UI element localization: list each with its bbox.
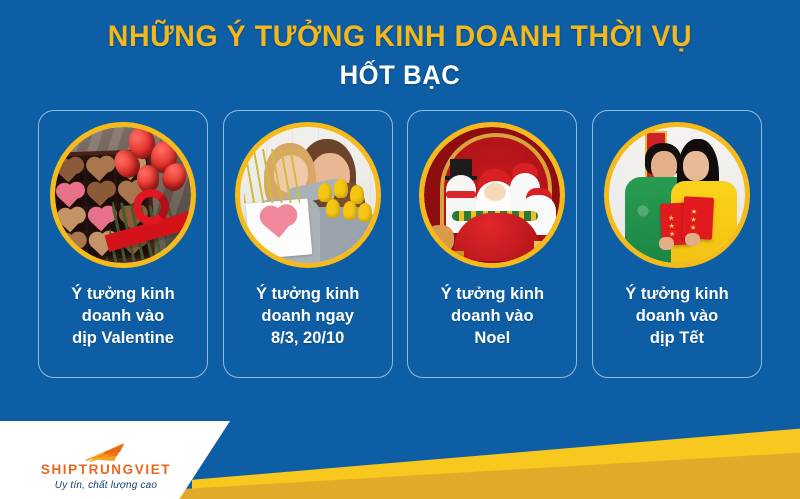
brand-tagline: Uy tín, chất lượng cao [22, 480, 190, 491]
photo-ring-noel [419, 122, 565, 268]
photo-ring-tet: ★ ★ ★ ★ ★ ★ [604, 122, 750, 268]
brand-logo[interactable]: SHIPTRUNGVIET Uy tín, chất lượng cao [22, 442, 190, 492]
photo-ring-womens-day [235, 122, 381, 268]
reindeer-toy [426, 225, 454, 253]
card-heart-icon [263, 209, 292, 239]
gift-box-right [534, 241, 554, 257]
tet-couple-red-envelopes-photo: ★ ★ ★ ★ ★ ★ [609, 127, 745, 263]
title-line-2: HỐT BẠC [20, 60, 780, 90]
photo-ring-valentine [50, 122, 196, 268]
envelope-stars: ★ ★ ★ [690, 208, 706, 233]
swoosh-arrow-icon [84, 442, 128, 462]
idea-card-tet[interactable]: ★ ★ ★ ★ ★ ★ Ý tưởng kinh doanh vào dịp T… [592, 110, 762, 378]
idea-card-womens-day[interactable]: Ý tưởng kinh doanh ngay 8/3, 20/10 [223, 110, 393, 378]
greeting-card [245, 198, 312, 259]
snowman-scarf [446, 191, 476, 198]
idea-card-valentine[interactable]: Ý tưởng kinh doanh vào dịp Valentine [38, 110, 208, 378]
red-ribbon-loop [133, 189, 169, 225]
valentine-chocolate-roses-photo [55, 127, 191, 263]
idea-card-noel[interactable]: Ý tưởng kinh doanh vào Noel [407, 110, 577, 378]
yellow-tulips [312, 179, 374, 255]
idea-card-list: Ý tưởng kinh doanh vào dịp Valentine [38, 110, 762, 378]
idea-card-caption: Ý tưởng kinh doanh vào dịp Tết [619, 284, 734, 350]
poster-canvas: NHỮNG Ý TƯỞNG KINH DOANH THỜI VỤ HỐT BẠC [0, 0, 800, 499]
woman-face [683, 151, 709, 181]
idea-card-caption: Ý tưởng kinh doanh vào dịp Valentine [65, 284, 180, 350]
idea-card-caption: Ý tưởng kinh doanh ngay 8/3, 20/10 [250, 284, 365, 350]
gift-box-left [446, 251, 464, 263]
title-line-1: NHỮNG Ý TƯỞNG KINH DOANH THỜI VỤ [20, 20, 780, 54]
mother-daughter-tulips-photo [240, 127, 376, 263]
page-title: NHỮNG Ý TƯỞNG KINH DOANH THỜI VỤ HỐT BẠC [0, 20, 800, 90]
christmas-santa-snowmen-photo [424, 127, 560, 263]
tulip-stems [244, 149, 300, 203]
idea-card-caption: Ý tưởng kinh doanh vào Noel [435, 284, 550, 350]
woman-hand [685, 233, 700, 246]
brand-name: SHIPTRUNGVIET [22, 463, 190, 477]
man-hand [659, 237, 674, 250]
